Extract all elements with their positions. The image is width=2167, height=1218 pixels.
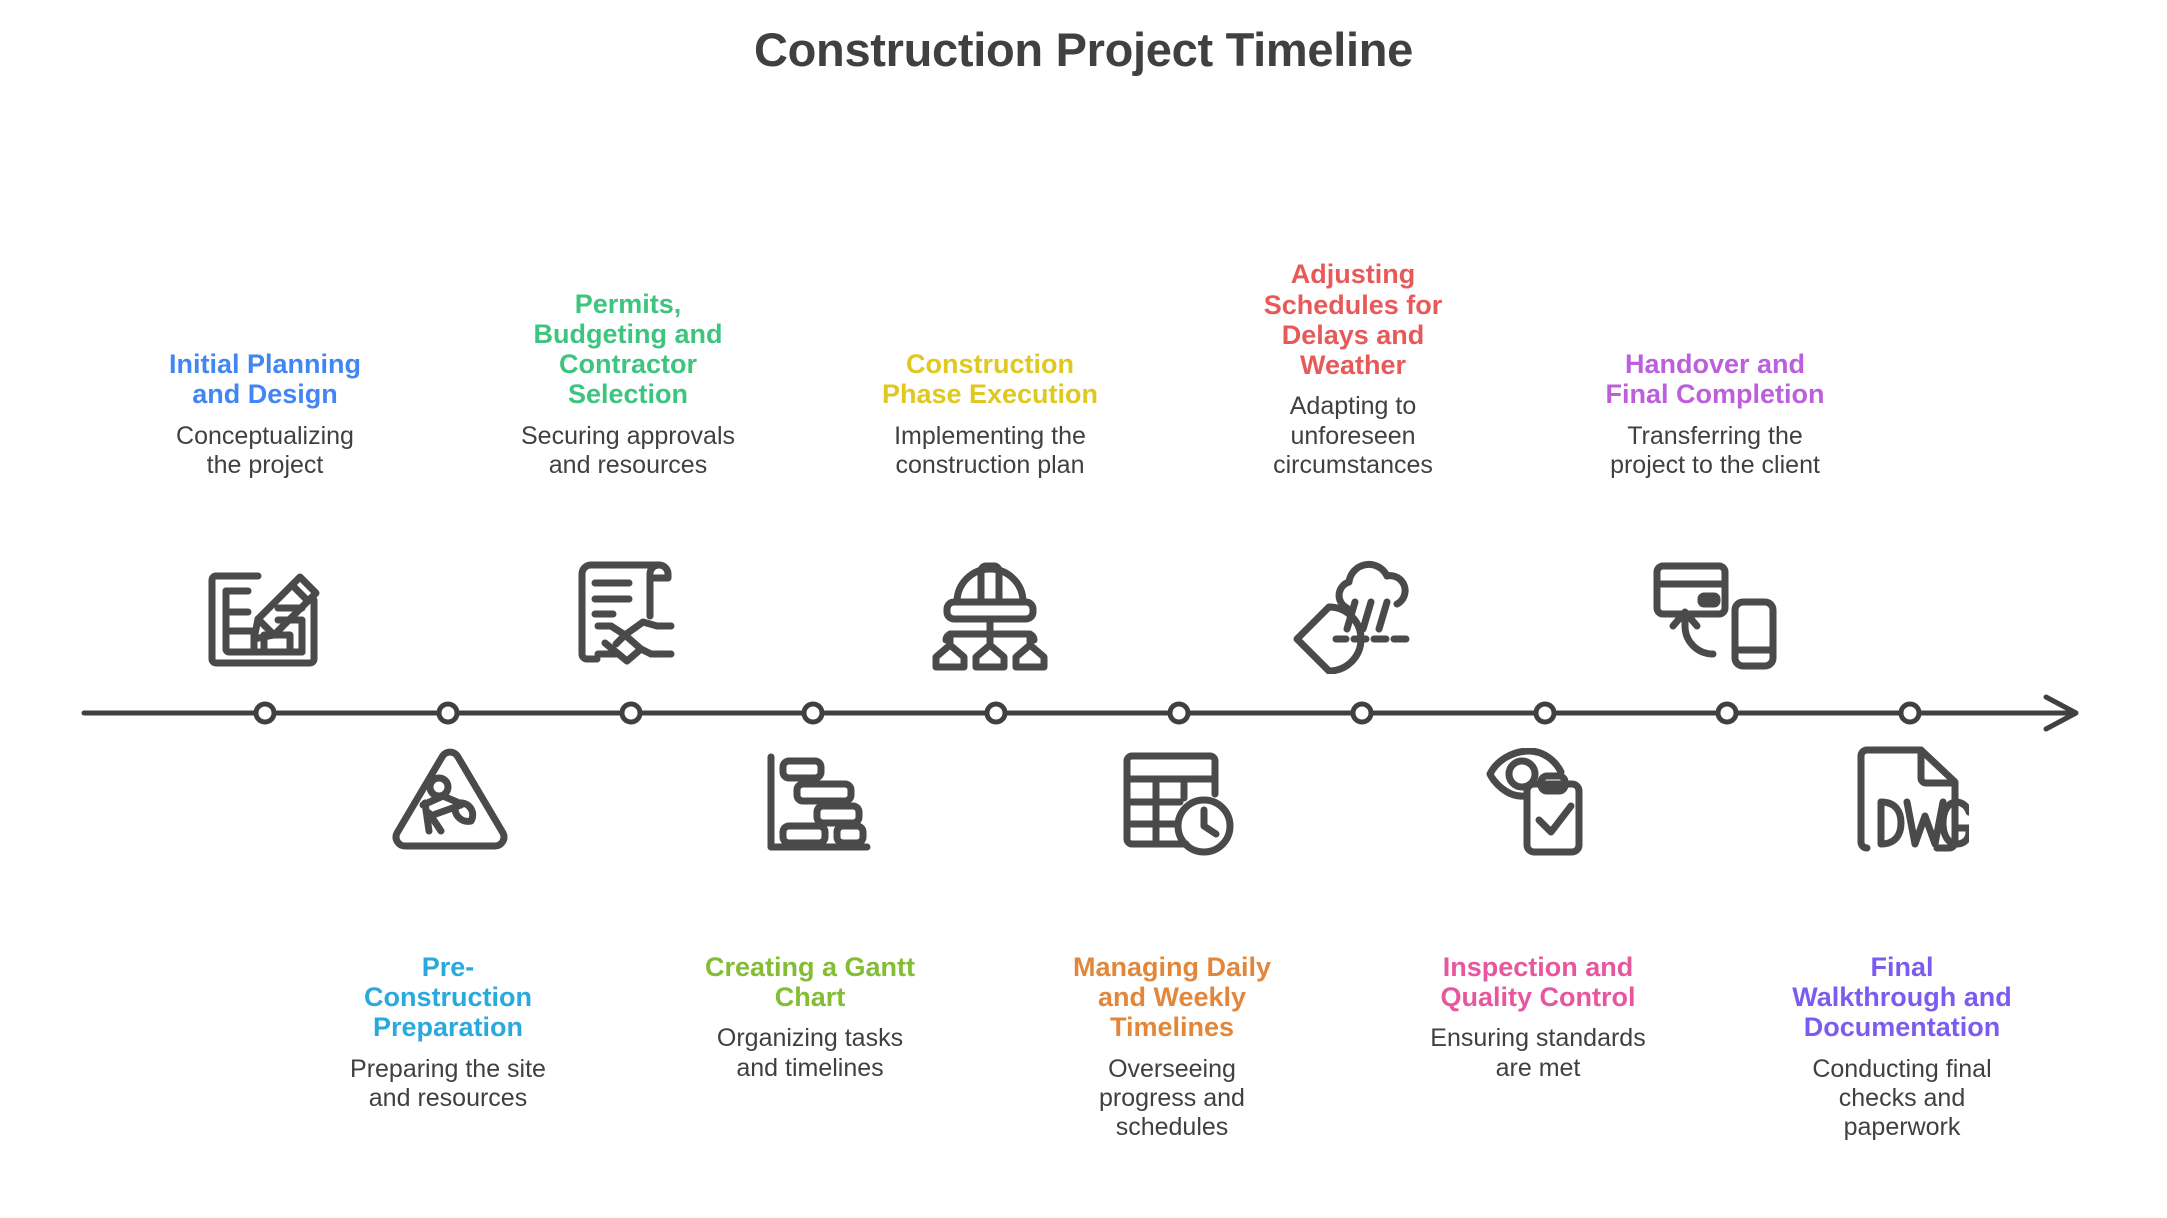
step-title: Inspection and Quality Control — [1388, 952, 1688, 1012]
step-title: Permits, Budgeting and Contractor Select… — [478, 289, 778, 410]
timeline-step-permits-budgeting: Permits, Budgeting and Contractor Select… — [478, 185, 778, 480]
step-title: Adjusting Schedules for Delays and Weath… — [1203, 259, 1503, 380]
timeline-marker — [1536, 704, 1554, 722]
icon-blueprint-pencil — [185, 550, 345, 680]
timeline-marker — [1170, 704, 1188, 722]
phone-body — [1735, 602, 1773, 666]
timeline-marker — [1718, 704, 1736, 722]
timeline-step-adjusting-schedules: Adjusting Schedules for Delays and Weath… — [1203, 155, 1503, 480]
step-title: Handover and Final Completion — [1565, 349, 1865, 409]
page-title: Construction Project Timeline — [0, 22, 2167, 77]
step-description: Conducting final checks and paperwork — [1752, 1055, 2052, 1143]
timeline-step-pre-construction: Pre- Construction Preparation Preparing … — [298, 952, 598, 1113]
step-title: Initial Planning and Design — [115, 349, 415, 409]
step-title: Construction Phase Execution — [840, 349, 1140, 409]
worker-shovel-blade — [455, 803, 473, 821]
clipboard-check — [1539, 806, 1571, 832]
gantt-bar-2 — [797, 784, 851, 801]
timeline-marker — [1353, 704, 1371, 722]
step-description: Organizing tasks and timelines — [660, 1024, 960, 1083]
house-1 — [936, 645, 964, 667]
step-description: Ensuring standards are met — [1388, 1024, 1688, 1083]
timeline-step-handover-completion: Handover and Final Completion Transferri… — [1565, 250, 1865, 480]
timeline-marker — [1901, 704, 1919, 722]
step-title: Final Walkthrough and Documentation — [1752, 952, 2052, 1043]
step-description: Preparing the site and resources — [298, 1055, 598, 1114]
gantt-bar-3 — [817, 806, 859, 823]
step-description: Implementing the construction plan — [840, 422, 1140, 481]
letter-w — [1907, 802, 1943, 844]
step-description: Conceptualizing the project — [115, 422, 415, 481]
rain-streak-2 — [1363, 602, 1371, 629]
timeline-step-construction-execution: Construction Phase Execution Implementin… — [840, 250, 1140, 480]
timeline-step-managing-timelines: Managing Daily and Weekly Timelines Over… — [1022, 952, 1322, 1142]
timeline-marker — [987, 704, 1005, 722]
handshake-right — [625, 622, 671, 635]
gantt-bar-4 — [783, 826, 825, 843]
timeline-step-gantt-chart: Creating a Gantt Chart Organizing tasks … — [660, 952, 960, 1083]
hardhat-dome — [957, 569, 1023, 602]
timeline-step-inspection-quality: Inspection and Quality Control Ensuring … — [1388, 952, 1688, 1083]
icon-roadwork-warning — [370, 735, 530, 865]
step-description: Securing approvals and resources — [478, 422, 778, 481]
letter-d — [1881, 802, 1901, 844]
house-3 — [1016, 645, 1044, 667]
icon-rain-delay — [1275, 550, 1435, 680]
icon-gantt-chart — [740, 740, 900, 870]
step-description: Overseeing progress and schedules — [1022, 1055, 1322, 1143]
icon-calendar-clock — [1100, 738, 1260, 868]
timeline-arrow-head — [2046, 697, 2076, 729]
icon-eye-clipboard-check — [1465, 738, 1625, 868]
timeline-marker — [256, 704, 274, 722]
step-title: Creating a Gantt Chart — [660, 952, 960, 1012]
house-2 — [976, 645, 1004, 667]
timeline-marker — [439, 704, 457, 722]
clock-hands — [1204, 810, 1216, 834]
rain-streak-3 — [1379, 602, 1387, 629]
timeline-marker — [622, 704, 640, 722]
step-title: Managing Daily and Weekly Timelines — [1022, 952, 1322, 1043]
step-description: Transferring the project to the client — [1565, 422, 1865, 481]
icon-card-to-phone-transfer — [1635, 550, 1795, 680]
timeline-step-final-walkthrough: Final Walkthrough and Documentation Cond… — [1752, 952, 2052, 1142]
timeline-step-initial-planning: Initial Planning and Design Conceptualiz… — [115, 250, 415, 480]
gantt-bar-5 — [837, 826, 863, 843]
step-title: Pre- Construction Preparation — [298, 952, 598, 1043]
icon-dwg-file — [1830, 735, 1990, 865]
handshake-arm — [641, 649, 651, 654]
timeline-markers — [256, 704, 1919, 722]
timeline-marker — [804, 704, 822, 722]
icon-contract-handshake — [553, 550, 713, 680]
step-description: Adapting to unforeseen circumstances — [1203, 392, 1503, 480]
icon-hardhat-hierarchy — [910, 548, 1070, 678]
gantt-bar-1 — [783, 761, 821, 778]
credit-card-chip — [1701, 596, 1717, 604]
